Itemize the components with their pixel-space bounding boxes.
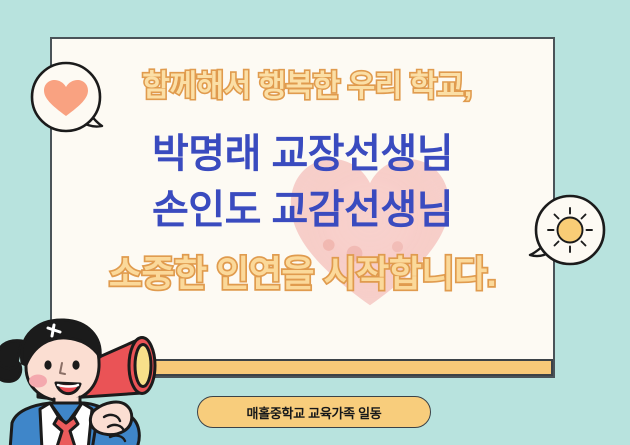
badge-label: 매홀중학교 교육가족 일동 (247, 403, 382, 422)
student-with-megaphone-icon (0, 305, 192, 445)
sun-speech-bubble (527, 192, 607, 272)
heart-watermark-icon (284, 147, 456, 319)
school-family-badge: 매홀중학교 교육가족 일동 (197, 396, 431, 428)
heart-speech-bubble (30, 60, 108, 140)
school-greeting-banner: 함께해서 행복한 우리 학교, 박명래 교장선생님 손인도 교감선생님 소중한 … (0, 0, 630, 445)
